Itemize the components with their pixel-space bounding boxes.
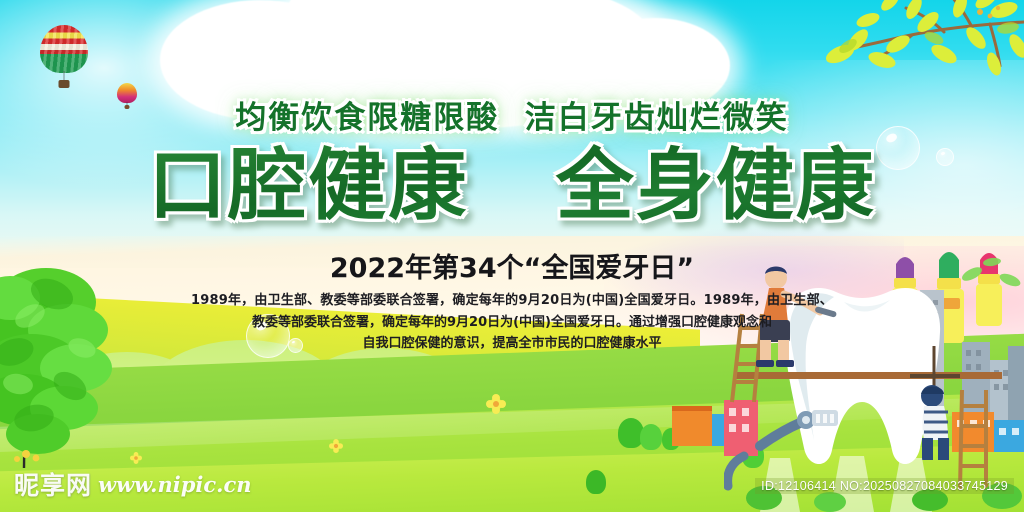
body-line-1: 1989年，由卫生部、教委等部委联合签署，确定每年的9月20日为(中国)全国爱牙… [0, 290, 1024, 312]
hot-air-balloon-large-icon [40, 25, 88, 91]
body-line-3: 自我口腔保健的意识，提高全市市民的口腔健康水平 [0, 333, 1024, 355]
flower-icon [490, 398, 502, 410]
site-watermark: 昵享网 www.nipic.cn [14, 466, 252, 502]
site-watermark-cn: 昵享网 [14, 466, 92, 502]
poster-main-title: 口腔健康 全身健康 [0, 143, 1024, 229]
poster-body-text: 1989年，由卫生部、教委等部委联合签署，确定每年的9月20日为(中国)全国爱牙… [0, 290, 1024, 355]
headline-block: 均衡饮食限糖限酸 洁白牙齿灿烂微笑 口腔健康 全身健康 [0, 92, 1024, 229]
site-watermark-url: www.nipic.cn [98, 472, 252, 497]
body-line-2: 教委等部委联合签署，确定每年的9月20日为(中国)全国爱牙日。通过增强口腔健康观… [0, 312, 1024, 334]
mini-tree-icon [586, 470, 606, 494]
image-id-watermark: ID:12106414 NO:20250827084033745129 [755, 478, 1014, 494]
flower-icon [332, 442, 340, 450]
house-orange-icon [672, 406, 712, 446]
mini-tree-icon [640, 424, 662, 450]
flower-icon [132, 454, 139, 461]
plank [736, 372, 1002, 379]
national-teeth-day-title: 2022年第34个“全国爱牙日” [0, 252, 1024, 286]
poster-subhead: 均衡饮食限糖限酸 洁白牙齿灿烂微笑 [0, 92, 1024, 137]
poster-canvas: 均衡饮食限糖限酸 洁白牙齿灿烂微笑 口腔健康 全身健康 2022年第34个“全国… [0, 0, 1024, 512]
